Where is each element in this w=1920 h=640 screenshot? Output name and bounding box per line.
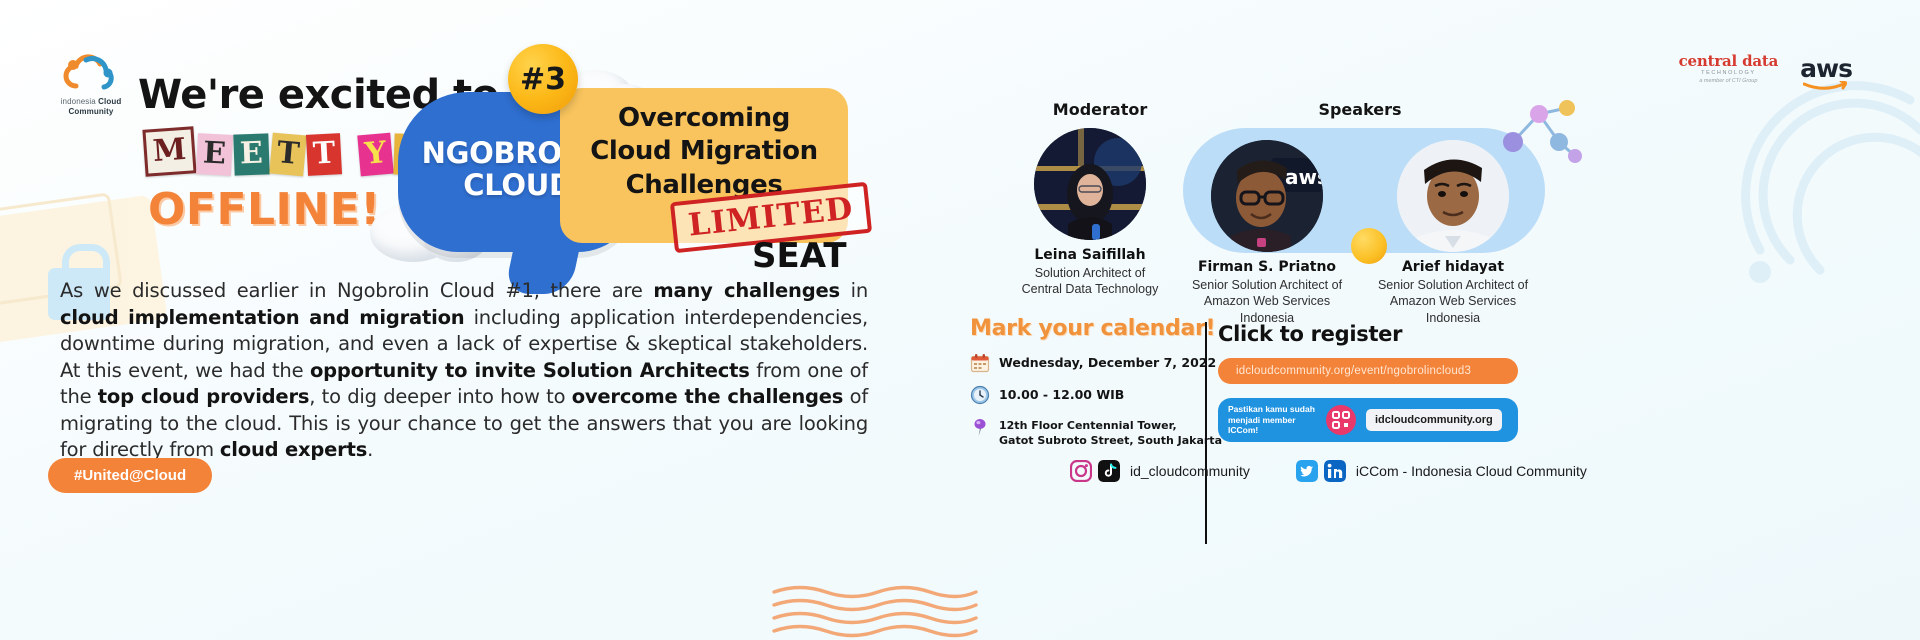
calendar-time-row: 10.00 - 12.00 WIB (970, 385, 1230, 405)
register-url-button[interactable]: idcloudcommunity.org/event/ngobrolinclou… (1218, 358, 1518, 384)
calendar-title: Mark your calendar! (970, 316, 1230, 341)
moderator-card: Leina Saifillah Solution Architect of Ce… (1000, 128, 1180, 298)
section-divider (1205, 322, 1207, 544)
avatar (1034, 128, 1146, 240)
speaker-name: Arief hidayat (1363, 259, 1543, 275)
avatar (1397, 140, 1509, 252)
wave-decoration (770, 582, 980, 640)
wifi-decoration (1720, 60, 1920, 300)
ransom-letter: Y (357, 133, 394, 177)
twitter-linkedin-group[interactable]: iCCom - Indonesia Cloud Community (1296, 460, 1587, 482)
moderator-title-line2: Central Data Technology (1000, 281, 1180, 297)
desc-bold: top cloud providers (98, 385, 310, 408)
cdt-note: a member of CTI Group (1679, 78, 1779, 84)
register-domain: idcloudcommunity.org (1366, 409, 1502, 431)
cdt-subtitle: TECHNOLOGY (1679, 70, 1779, 76)
hashtag-badge: #United@Cloud (48, 458, 212, 493)
membership-cta: Pastikan kamu sudah menjadi member ICCom… (1228, 404, 1316, 436)
aws-wordmark: aws (1800, 54, 1852, 83)
speaker-title-line2: Amazon Web Services Indonesia (1363, 293, 1543, 326)
calendar-date-row: Wednesday, December 7, 2022 (970, 353, 1230, 373)
social-handle: id_cloudcommunity (1130, 463, 1250, 479)
speaker-title-line1: Senior Solution Architect of (1177, 277, 1357, 293)
cta-line2: menjadi member ICCom! (1228, 415, 1316, 436)
edition-badge: #3 (508, 44, 578, 114)
desc-bold: opportunity to invite Solution Architect… (310, 359, 750, 382)
headline-offline: OFFLINE! (148, 184, 381, 235)
central-data-technology-logo: central data TECHNOLOGY a member of CTI … (1679, 52, 1779, 84)
map-pin-icon (970, 417, 990, 437)
desc-bold: cloud implementation and migration (60, 306, 464, 329)
register-title: Click to register (1218, 322, 1518, 346)
ransom-letter: T (269, 133, 307, 177)
event-banner: indonesia Cloud Community We're excited … (0, 0, 1920, 640)
avatar: aws (1211, 140, 1323, 252)
topic-text: Overcoming Cloud Migration Challenges (560, 102, 848, 202)
qr-code-icon (1326, 405, 1356, 435)
desc-part: As we discussed earlier in Ngobrolin Clo… (60, 279, 653, 302)
logo-line1: indonesia (61, 97, 96, 106)
instagram-icon[interactable] (1070, 460, 1092, 482)
indonesia-cloud-community-logo: indonesia Cloud Community (48, 52, 134, 117)
moderator-title-line1: Solution Architect of (1000, 265, 1180, 281)
calendar-date: Wednesday, December 7, 2022 (999, 353, 1216, 372)
instagram-group[interactable]: id_cloudcommunity (1070, 460, 1250, 482)
cdt-name: central data (1679, 52, 1779, 70)
speaker-title-line1: Senior Solution Architect of (1363, 277, 1543, 293)
moderator-photo (1034, 128, 1146, 240)
yellow-dot-decoration (1351, 228, 1387, 264)
twitter-icon[interactable] (1296, 460, 1318, 482)
venue-line1: 12th Floor Centennial Tower, (999, 419, 1222, 434)
desc-part: , to dig deeper into how to (309, 385, 571, 408)
qr-glyph (1332, 411, 1350, 429)
calendar-venue-row: 12th Floor Centennial Tower, Gatot Subro… (970, 417, 1230, 448)
venue-line2: Gatot Subroto Street, South Jakarta (999, 434, 1222, 449)
topic-line2: Cloud Migration (560, 135, 848, 168)
cloud-logo-icon (62, 52, 120, 94)
molecule-decoration (1497, 94, 1589, 170)
linkedin-icon[interactable] (1324, 460, 1346, 482)
membership-card[interactable]: Pastikan kamu sudah menjadi member ICCom… (1218, 398, 1518, 442)
desc-bold: cloud experts (220, 438, 367, 461)
event-description: As we discussed earlier in Ngobrolin Clo… (60, 278, 868, 464)
speaker-title: Senior Solution Architect of Amazon Web … (1363, 277, 1543, 326)
register-section: Click to register idcloudcommunity.org/e… (1218, 322, 1518, 442)
aws-smile-icon (1803, 81, 1847, 91)
calendar-venue: 12th Floor Centennial Tower, Gatot Subro… (999, 417, 1222, 448)
logo-line2: Cloud (98, 97, 121, 106)
cta-line1: Pastikan kamu sudah (1228, 404, 1316, 415)
ransom-letter: T (306, 133, 342, 176)
svg-text:aws: aws (1285, 165, 1323, 189)
calendar-time: 10.00 - 12.00 WIB (999, 385, 1124, 404)
desc-bold: overcome the challenges (572, 385, 844, 408)
tiktok-icon[interactable] (1098, 460, 1120, 482)
desc-bold: many challenges (653, 279, 839, 302)
seat-label: SEAT (752, 236, 847, 276)
logo-line3: Community (69, 107, 114, 116)
aws-logo: aws (1800, 54, 1852, 83)
moderator-title: Solution Architect of Central Data Techn… (1000, 265, 1180, 298)
ransom-letter: E (196, 133, 233, 176)
speaker-name: Firman S. Priatno (1177, 259, 1357, 275)
desc-part: . (367, 438, 373, 461)
ransom-letter: E (233, 133, 269, 175)
speakers-group: Speakers (1175, 100, 1545, 119)
moderator-name: Leina Saifillah (1000, 247, 1180, 263)
speaker-photo: aws (1211, 140, 1323, 252)
ransom-letter: M (142, 126, 196, 176)
desc-part: in (840, 279, 868, 302)
social-footer: id_cloudcommunity iCCom - Indonesia Clou… (1070, 460, 1587, 482)
partner-logos: central data TECHNOLOGY a member of CTI … (1679, 52, 1852, 84)
social-page: iCCom - Indonesia Cloud Community (1356, 463, 1587, 479)
calendar-section: Mark your calendar! Wednesday, December … (970, 316, 1230, 448)
speaker-photo (1397, 140, 1509, 252)
speakers-label: Speakers (1175, 100, 1545, 119)
calendar-icon (970, 353, 990, 373)
logo-caption: indonesia Cloud Community (48, 97, 134, 117)
speaker-card: aws Firman S. Priatno Senior Solution Ar… (1177, 140, 1357, 326)
topic-line1: Overcoming (560, 102, 848, 135)
clock-icon (970, 385, 990, 405)
